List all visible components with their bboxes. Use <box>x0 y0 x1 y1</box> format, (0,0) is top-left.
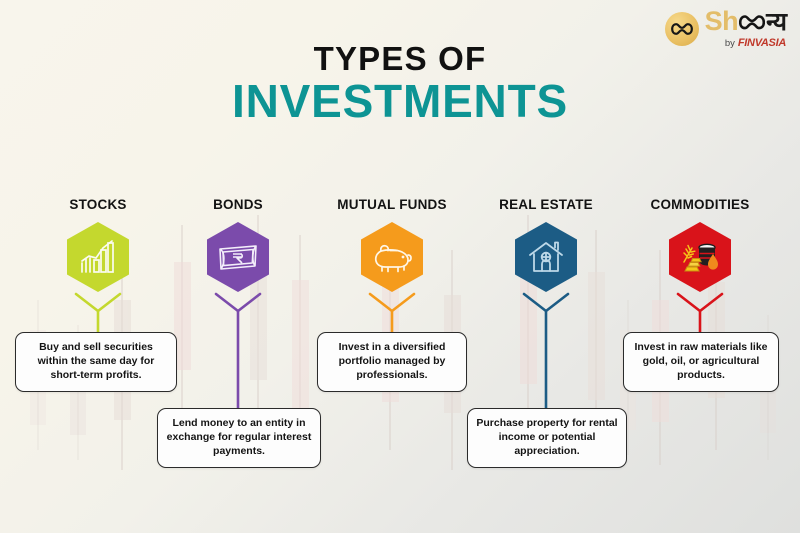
category-hexagon-3[interactable] <box>515 222 577 292</box>
connector-stem-0 <box>72 292 124 334</box>
category-hexagon-0[interactable] <box>67 222 129 292</box>
bar-chart-growth-icon <box>79 239 117 275</box>
category-label-4: COMMODITIES <box>620 197 780 212</box>
category-description-4: Invest in raw materials like gold, oil, … <box>623 332 779 392</box>
category-icon-wrapper-4 <box>669 222 731 292</box>
infographic-canvas: Sh न्य by FINVASIA TYPES OF INVESTMENTS … <box>0 0 800 533</box>
connector-stem-2 <box>366 292 418 334</box>
category-column-real-estate: REAL ESTATE Purchase <box>466 0 626 533</box>
gold-oil-wheat-icon <box>679 240 721 274</box>
category-icon-wrapper-0 <box>67 222 129 292</box>
piggy-bank-icon <box>372 241 412 273</box>
category-description-0: Buy and sell securities within the same … <box>15 332 177 392</box>
category-hexagon-2[interactable] <box>361 222 423 292</box>
connector-stem-1 <box>212 292 264 410</box>
category-label-3: REAL ESTATE <box>466 197 626 212</box>
category-icon-wrapper-3 <box>515 222 577 292</box>
category-column-bonds: BONDS Lend money to an entity <box>158 0 318 533</box>
category-hexagon-1[interactable] <box>207 222 269 292</box>
connector-stem-3 <box>520 292 572 410</box>
rupee-banknote-icon <box>218 243 258 271</box>
category-description-1: Lend money to an entity in exchange for … <box>157 408 321 468</box>
category-column-stocks: STOCKS Buy and sell securitie <box>18 0 178 533</box>
category-label-0: STOCKS <box>18 197 178 212</box>
category-column-commodities: COMMODITIES <box>620 0 780 533</box>
category-label-2: MUTUAL FUNDS <box>312 197 472 212</box>
category-description-3: Purchase property for rental income or p… <box>467 408 627 468</box>
connector-stem-4 <box>674 292 726 334</box>
category-icon-wrapper-2 <box>361 222 423 292</box>
category-label-1: BONDS <box>158 197 318 212</box>
category-hexagon-4[interactable] <box>669 222 731 292</box>
category-icon-wrapper-1 <box>207 222 269 292</box>
category-column-mutual-funds: MUTUAL FUNDS Invest <box>312 0 472 533</box>
house-icon <box>528 240 564 274</box>
category-description-2: Invest in a diversified portfolio manage… <box>317 332 467 392</box>
